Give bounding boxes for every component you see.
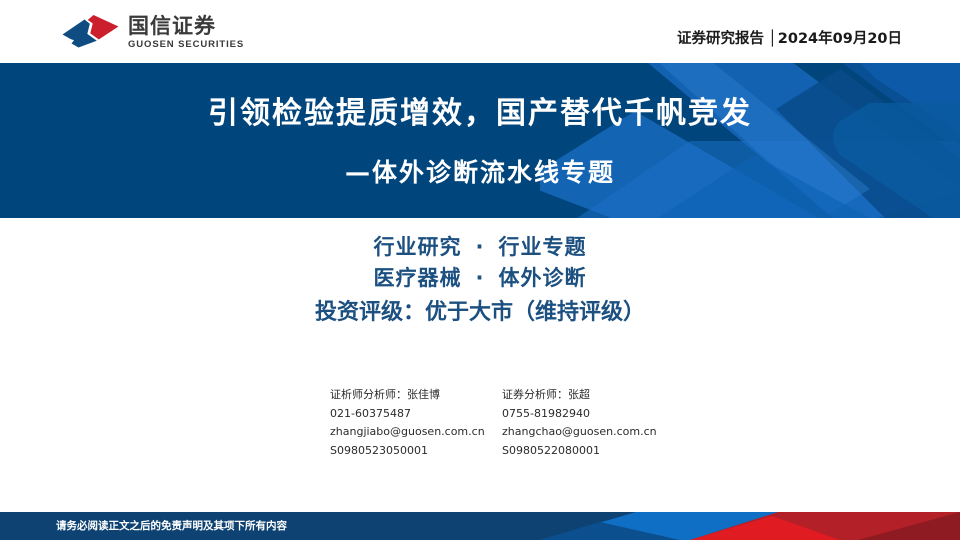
analyst-role: 证券分析师：张超 bbox=[502, 386, 657, 405]
title-banner: 引领检验提质增效，国产替代千帆竞发 —体外诊断流水线专题 bbox=[0, 63, 960, 218]
industry-research-label: 行业研究 bbox=[374, 235, 462, 259]
analyst-role: 证析师分析师：张佳博 bbox=[330, 386, 502, 405]
analyst-license: S0980523050001 bbox=[330, 442, 502, 461]
report-date: 2024年09月20日 bbox=[778, 31, 902, 47]
analyst-email[interactable]: zhangjiabo@guosen.com.cn bbox=[330, 423, 502, 442]
subsector-label: 体外诊断 bbox=[498, 266, 586, 290]
page-footer: 请务必阅读正文之后的免责声明及其项下所有内容 bbox=[0, 512, 960, 540]
analyst-card: 证券分析师：张超 0755-81982940 zhangchao@guosen.… bbox=[502, 386, 657, 460]
bullet-separator-icon: · bbox=[462, 266, 499, 290]
sector-label: 医疗器械 bbox=[374, 266, 462, 290]
industry-research-line: 行业研究·行业专题 bbox=[0, 232, 960, 263]
industry-topic-label: 行业专题 bbox=[498, 235, 586, 259]
analyst-contacts: 证析师分析师：张佳博 021-60375487 zhangjiabo@guose… bbox=[330, 386, 657, 460]
analyst-email[interactable]: zhangchao@guosen.com.cn bbox=[502, 423, 657, 442]
analyst-phone[interactable]: 0755-81982940 bbox=[502, 405, 657, 424]
page-header: 国信证券 GUOSEN SECURITIES 证券研究报告│2024年09月20… bbox=[0, 0, 960, 63]
footer-decoration-pattern bbox=[540, 512, 960, 540]
banner-decoration-pattern bbox=[540, 63, 960, 218]
bullet-separator-icon: · bbox=[462, 235, 499, 259]
report-meta: 证券研究报告│2024年09月20日 bbox=[0, 27, 960, 48]
page-title: 引领检验提质增效，国产替代千帆竞发 bbox=[0, 88, 960, 132]
report-type-label: 证券研究报告 bbox=[677, 31, 764, 47]
page-subtitle: —体外诊断流水线专题 bbox=[0, 153, 960, 189]
meta-separator: │ bbox=[764, 31, 778, 47]
disclaimer-text: 请务必阅读正文之后的免责声明及其项下所有内容 bbox=[56, 512, 287, 540]
analyst-card: 证析师分析师：张佳博 021-60375487 zhangjiabo@guose… bbox=[330, 386, 502, 460]
investment-rating: 投资评级：优于大市（维持评级） bbox=[0, 296, 960, 330]
analyst-phone[interactable]: 021-60375487 bbox=[330, 405, 502, 424]
sector-line: 医疗器械·体外诊断 bbox=[0, 263, 960, 294]
analyst-license: S0980522080001 bbox=[502, 442, 657, 461]
report-classification: 行业研究·行业专题 医疗器械·体外诊断 投资评级：优于大市（维持评级） bbox=[0, 232, 960, 330]
